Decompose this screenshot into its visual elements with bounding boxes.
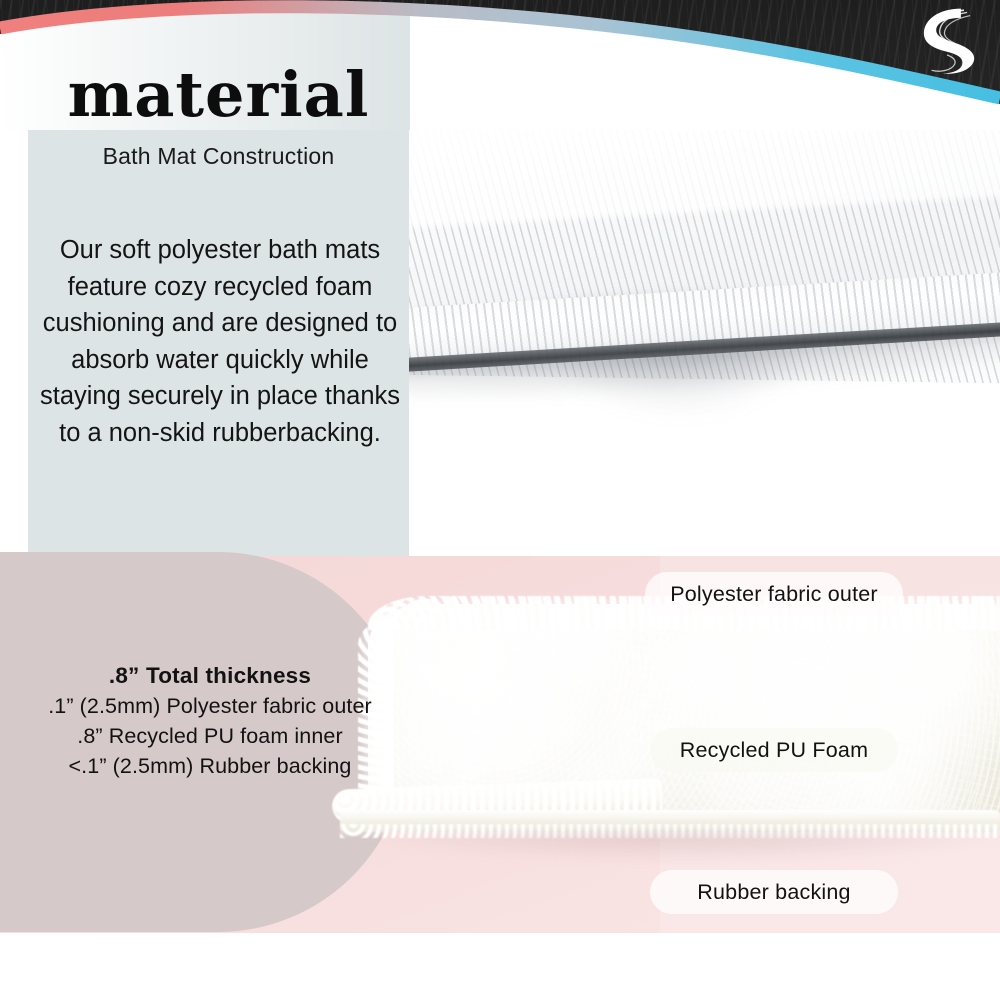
cross-section-shadow	[360, 832, 1000, 862]
stylized-s-swoosh-logo	[908, 4, 986, 78]
spec-line-outer: .1” (2.5mm) Polyester fabric outer	[24, 691, 396, 721]
page-subtitle: Bath Mat Construction	[28, 143, 409, 170]
callout-rubber-backing: Rubber backing	[650, 870, 898, 914]
foam-core-layer	[368, 604, 1000, 812]
spec-line-foam: .8” Recycled PU foam inner	[24, 721, 396, 751]
thickness-spec-list: .8” Total thickness .1” (2.5mm) Polyeste…	[24, 660, 396, 781]
foam-texture-grain	[368, 604, 1000, 812]
spec-total-thickness: .8” Total thickness	[24, 660, 396, 691]
infographic-canvas: material Bath Mat Construction Our soft …	[0, 0, 1000, 1000]
page-title: material	[28, 64, 409, 126]
spec-line-backing: <.1” (2.5mm) Rubber backing	[24, 751, 396, 781]
callout-polyester-fabric-outer: Polyester fabric outer	[645, 572, 903, 616]
callout-recycled-pu-foam: Recycled PU Foam	[650, 728, 898, 772]
body-description: Our soft polyester bath mats feature coz…	[36, 232, 404, 451]
